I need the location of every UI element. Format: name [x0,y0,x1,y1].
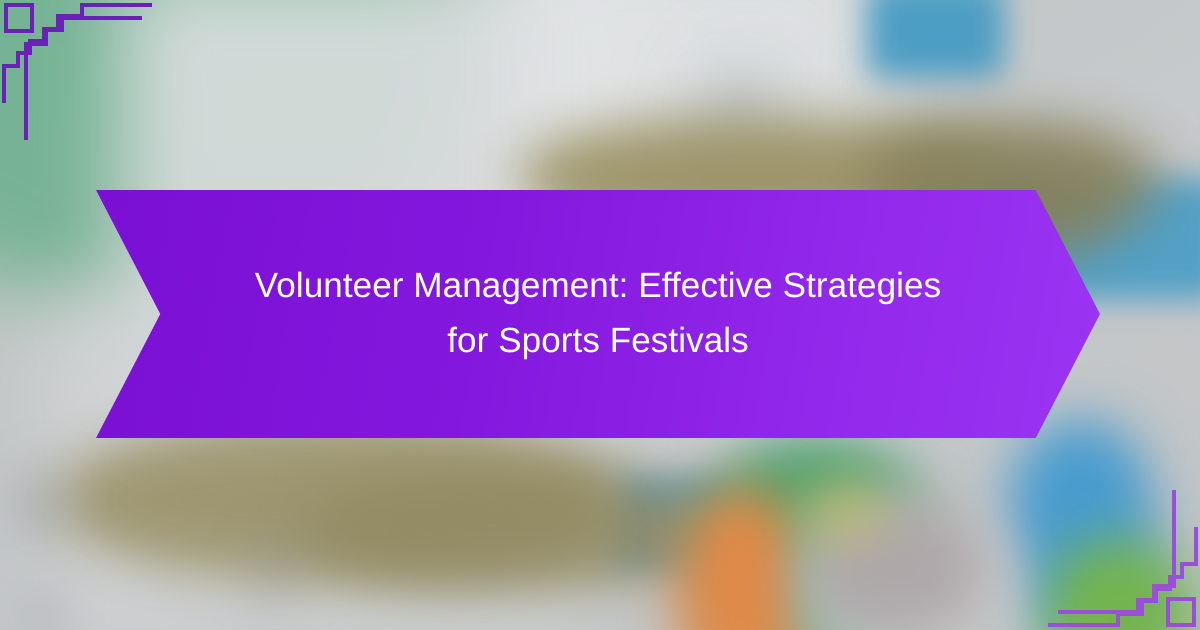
banner-canvas: Volunteer Management: Effective Strategi… [0,0,1200,630]
page-title: Volunteer Management: Effective Strategi… [96,190,1100,438]
page-title-line-1: Volunteer Management: Effective Strategi… [255,259,941,314]
title-ribbon: Volunteer Management: Effective Strategi… [96,190,1100,438]
page-title-line-2: for Sports Festivals [447,314,749,369]
